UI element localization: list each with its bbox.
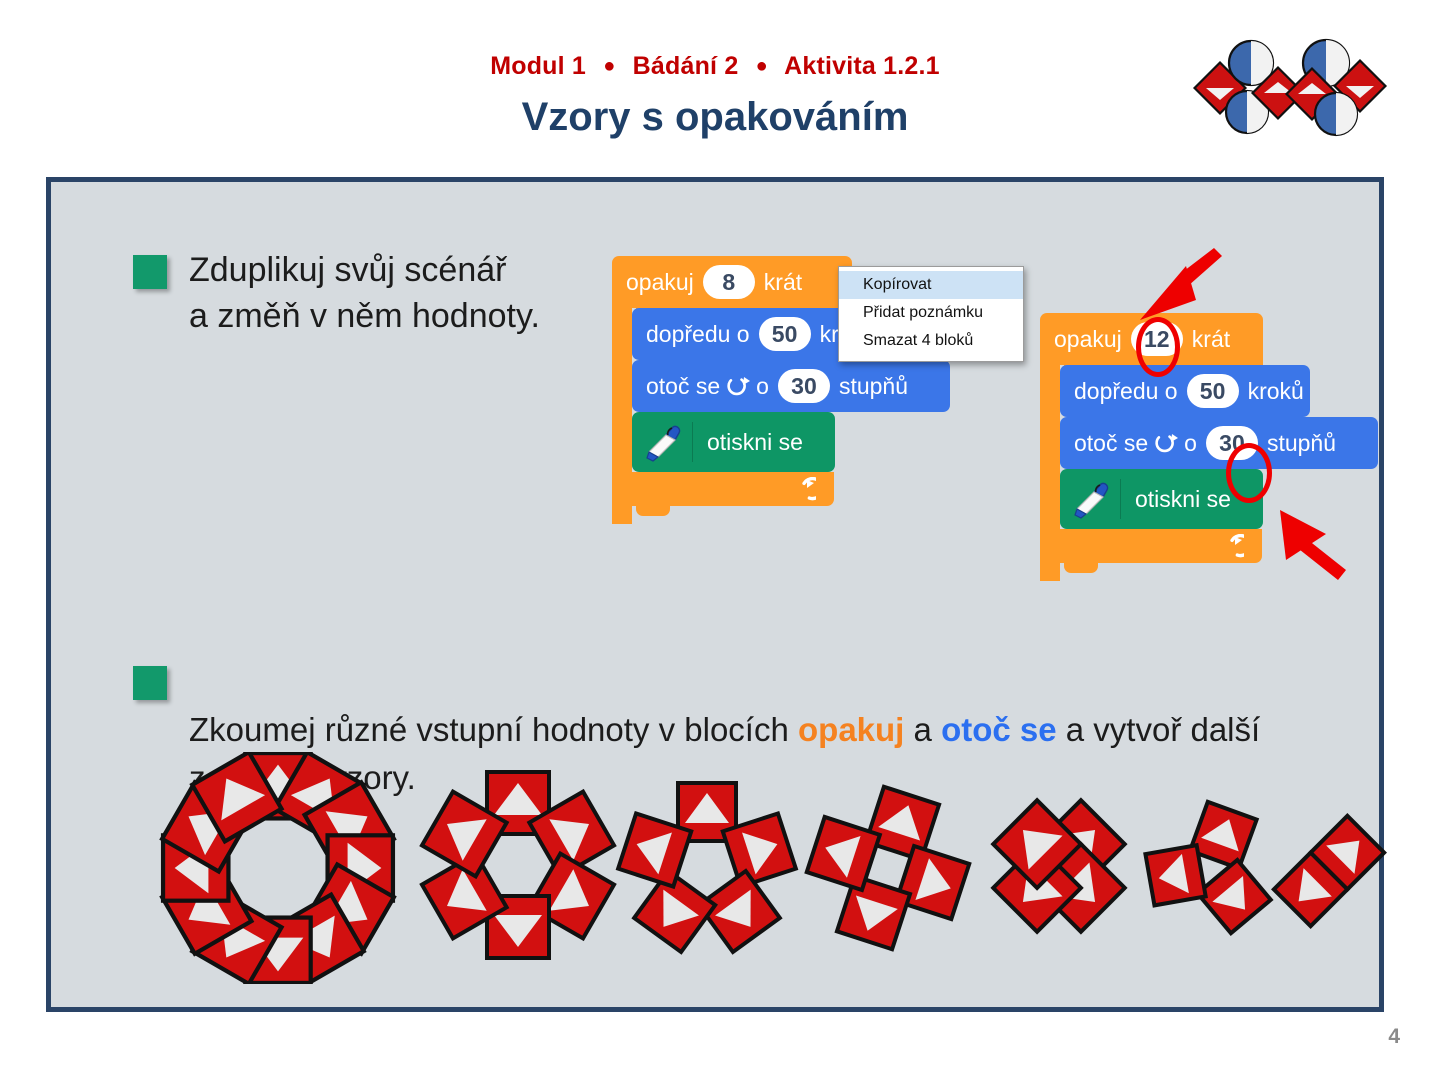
keyword-otoc-se: otoč se: [941, 711, 1057, 748]
block-tab: [1064, 563, 1098, 573]
slide-header: Modul 1 ● Bádání 2 ● Aktivita 1.2.1 Vzor…: [0, 0, 1430, 165]
block-label: otiskni se: [707, 429, 803, 456]
block-label: dopředu o: [646, 321, 750, 348]
block-label: opakuj: [1054, 326, 1122, 353]
pen-icon: [1070, 476, 1116, 522]
bullet-marker: [133, 666, 167, 700]
breadcrumb-item-activity: Aktivita 1.2.1: [784, 52, 940, 80]
arrow-pointing-repeat-value: [1140, 248, 1250, 328]
logo-shapes: [1186, 32, 1396, 147]
pattern-6-sided: [418, 770, 618, 960]
move-steps-input[interactable]: 50: [1187, 374, 1239, 408]
page-number: 4: [1388, 1025, 1400, 1049]
block-stamp[interactable]: otiskni se: [632, 412, 835, 472]
stamp-divider: [692, 422, 693, 462]
block-repeat[interactable]: opakuj 8 krát: [612, 256, 852, 308]
context-menu[interactable]: Kopírovat Přidat poznámku Smazat 4 bloků: [838, 266, 1024, 362]
block-label: kroků: [1248, 378, 1304, 405]
block-label: krát: [1192, 326, 1230, 353]
bullet-text-part: Zkoumej různé vstupní hodnoty v blocích: [189, 711, 798, 748]
block-move[interactable]: dopředu o 50 kroků: [1060, 365, 1310, 417]
arrow-pointing-turn-block: [1276, 508, 1372, 586]
loop-arrow-icon: [788, 477, 816, 501]
block-label: otiskni se: [1135, 486, 1231, 513]
loop-footer[interactable]: [612, 472, 834, 506]
keyword-opakuj: opakuj: [798, 711, 904, 748]
bullet-item-duplicate: Zduplikuj svůj scénář a změň v něm hodno…: [133, 247, 603, 339]
block-label: o: [1184, 430, 1197, 457]
menu-item-delete-blocks[interactable]: Smazat 4 bloků: [839, 327, 1023, 355]
block-label: otoč se: [1074, 430, 1148, 457]
block-label: o: [756, 373, 769, 400]
rotate-cw-icon: [1154, 431, 1178, 455]
breadcrumb-item-inquiry: Bádání 2: [633, 52, 739, 80]
rotate-cw-icon: [726, 374, 750, 398]
bullet-text: Zduplikuj svůj scénář a změň v něm hodno…: [189, 247, 540, 339]
pattern-2-stack: [1264, 800, 1394, 942]
scratch-script-duplicate[interactable]: opakuj 12 krát dopředu o 50 kroků otoč s…: [1040, 313, 1380, 643]
block-label: opakuj: [626, 269, 694, 296]
block-label: stupňů: [839, 373, 908, 400]
move-steps-input[interactable]: 50: [759, 317, 811, 351]
bullet-text-part: a: [904, 711, 941, 748]
repeat-count-input[interactable]: 8: [703, 265, 755, 299]
menu-item-add-comment[interactable]: Přidat poznámku: [839, 299, 1023, 327]
stamp-divider: [1120, 479, 1121, 519]
pattern-5-sided: [612, 776, 802, 958]
breadcrumb-separator: ●: [756, 55, 768, 78]
pattern-4-tight: [976, 782, 1142, 950]
loop-arrow-icon: [1216, 534, 1244, 558]
menu-item-copy[interactable]: Kopírovat: [839, 271, 1023, 299]
turn-degrees-input[interactable]: 30: [778, 369, 830, 403]
pattern-4-sided: [798, 780, 978, 956]
block-tab: [636, 506, 670, 516]
pattern-12-sided: [150, 752, 406, 984]
block-turn[interactable]: otoč se o 30 stupňů: [632, 360, 950, 412]
highlight-ellipse-turn-value: [1226, 443, 1272, 503]
loop-footer[interactable]: [1040, 529, 1262, 563]
breadcrumb-separator: ●: [603, 55, 615, 78]
block-label: otoč se: [646, 373, 720, 400]
block-label: stupňů: [1267, 430, 1336, 457]
pattern-gallery: [150, 752, 1340, 984]
breadcrumb-item-module: Modul 1: [490, 52, 586, 80]
pen-icon: [642, 419, 688, 465]
block-label: dopředu o: [1074, 378, 1178, 405]
block-turn[interactable]: otoč se o 30 stupňů: [1060, 417, 1378, 469]
block-move[interactable]: dopředu o 50 kroků: [632, 308, 872, 360]
block-label: krát: [764, 269, 802, 296]
bullet-marker: [133, 255, 167, 289]
